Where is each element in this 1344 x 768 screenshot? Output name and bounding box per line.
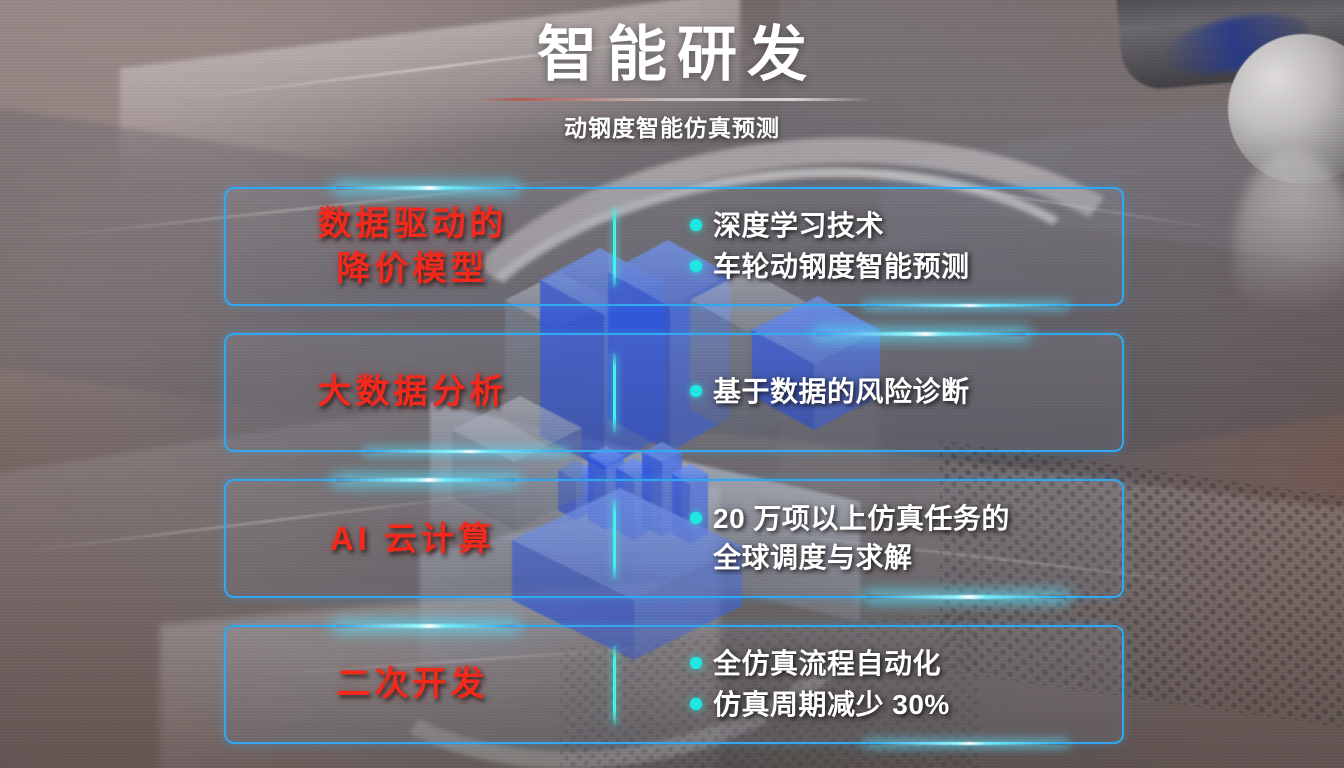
list-item: 深度学习技术 [690, 207, 1122, 245]
page-subtitle: 动钢度智能仿真预测 [0, 109, 1344, 143]
card-title-area: AI 云计算 [226, 517, 613, 561]
title-divider-icon [472, 98, 872, 101]
card-title: 二次开发 [337, 662, 489, 707]
card-title: 数据驱动的 降价模型 [318, 202, 508, 292]
card-title: AI 云计算 [330, 517, 495, 561]
border-glow-icon [866, 304, 1066, 307]
border-glow-icon [866, 742, 1066, 745]
card-item[interactable]: 二次开发 全仿真流程自动化 仿真周期减少 30% [224, 625, 1124, 744]
card-item[interactable]: 数据驱动的 降价模型 深度学习技术 车轮动钢度智能预测 [224, 187, 1124, 306]
bullet-dot-icon [690, 385, 702, 397]
bullet-dot-icon [690, 260, 702, 272]
border-glow-icon [866, 595, 1066, 599]
card-title-area: 数据驱动的 降价模型 [226, 202, 613, 292]
border-glow-icon [366, 450, 566, 453]
list-item: 20 万项以上仿真任务的 全球调度与求解 [690, 500, 1122, 576]
bullet-dot-icon [690, 219, 702, 231]
card-bullet-list: 深度学习技术 车轮动钢度智能预测 [616, 205, 1122, 287]
card-list: 数据驱动的 降价模型 深度学习技术 车轮动钢度智能预测 大数据分析 [224, 187, 1124, 744]
card-bullet-list: 基于数据的风险诊断 [616, 371, 1122, 413]
card-title-area: 大数据分析 [226, 370, 613, 415]
border-glow-icon [336, 186, 516, 190]
list-item: 车轮动钢度智能预测 [690, 248, 1122, 286]
page-title: 智能研发 [0, 24, 1344, 86]
bullet-label: 20 万项以上仿真任务的 全球调度与求解 [713, 500, 1010, 576]
bullet-label: 车轮动钢度智能预测 [713, 248, 970, 286]
list-item: 全仿真流程自动化 [690, 645, 1122, 683]
card-title: 大数据分析 [318, 370, 508, 415]
bullet-label: 全仿真流程自动化 [713, 645, 941, 683]
bullet-label: 仿真周期减少 30% [713, 686, 950, 724]
card-title-area: 二次开发 [226, 662, 613, 707]
bullet-dot-icon [690, 512, 702, 524]
border-glow-icon [336, 624, 516, 628]
border-glow-icon [336, 478, 516, 482]
bullet-dot-icon [690, 698, 702, 710]
card-bullet-list: 全仿真流程自动化 仿真周期减少 30% [616, 643, 1122, 725]
card-item[interactable]: AI 云计算 20 万项以上仿真任务的 全球调度与求解 [224, 479, 1124, 598]
list-item: 基于数据的风险诊断 [690, 373, 1122, 411]
bullet-label: 基于数据的风险诊断 [713, 373, 970, 411]
card-item[interactable]: 大数据分析 基于数据的风险诊断 [224, 333, 1124, 452]
header: 智能研发 动钢度智能仿真预测 [0, 24, 1344, 143]
bullet-dot-icon [690, 657, 702, 669]
card-bullet-list: 20 万项以上仿真任务的 全球调度与求解 [616, 498, 1122, 578]
border-glow-icon [816, 332, 1026, 336]
slide-content: 智能研发 动钢度智能仿真预测 数据驱动的 降价模型 深度学习技术 车轮动钢度智能… [0, 0, 1344, 768]
list-item: 仿真周期减少 30% [690, 686, 1122, 724]
bullet-label: 深度学习技术 [713, 207, 884, 245]
